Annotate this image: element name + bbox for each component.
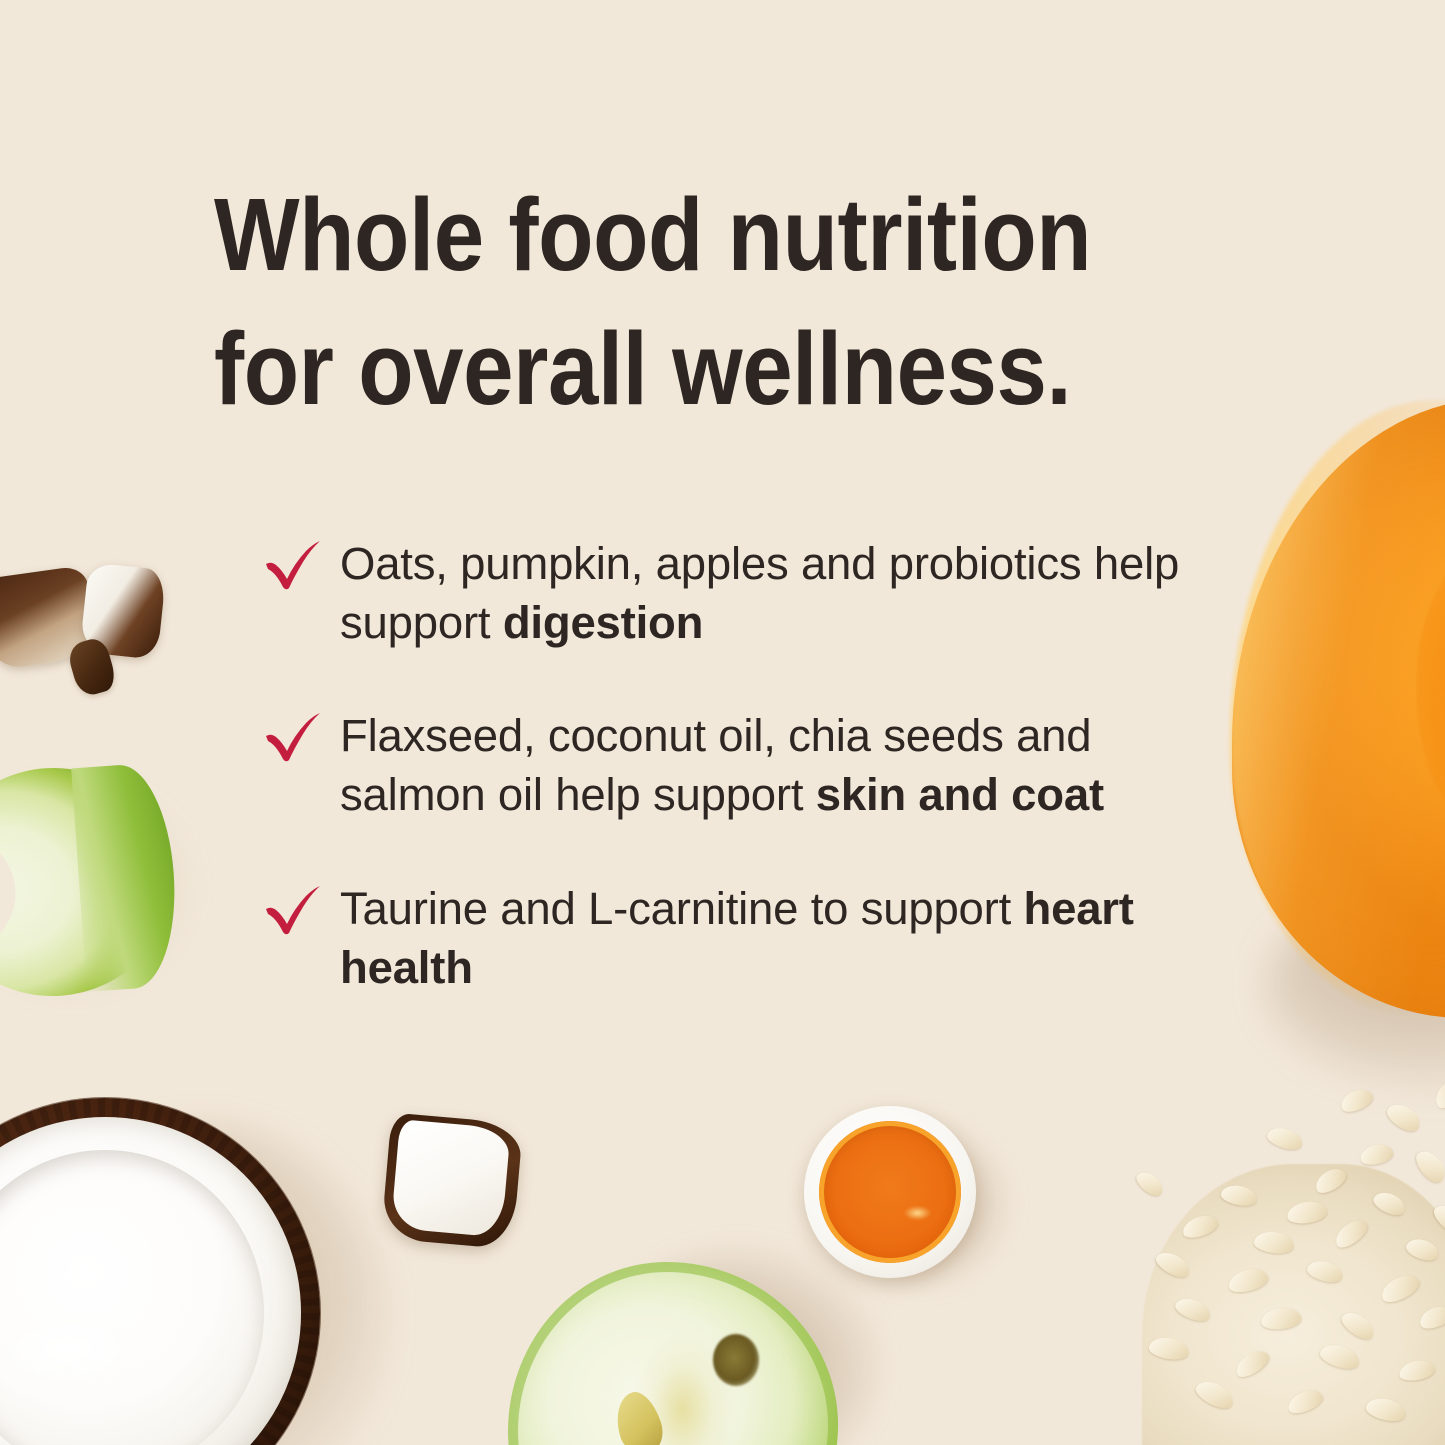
- coconut-highlight: [2, 1322, 148, 1391]
- headline-line-2: for overall wellness.: [214, 302, 1173, 436]
- oat-flake: [1411, 1146, 1445, 1187]
- apple-half-image: [508, 1262, 838, 1445]
- list-item: Oats, pumpkin, apples and probiotics hel…: [262, 534, 1222, 652]
- check-icon: [262, 712, 324, 764]
- pumpkin-rim-highlight: [1230, 400, 1445, 1014]
- oil-highlight: [904, 1206, 932, 1220]
- oat-flake: [1265, 1124, 1305, 1153]
- list-item-text: Flaxseed, coconut oil, chia seeds and sa…: [340, 706, 1222, 824]
- check-icon: [262, 885, 324, 937]
- oat-flake: [1431, 1075, 1445, 1112]
- page-title: Whole food nutrition for overall wellnes…: [214, 168, 1173, 436]
- headline-line-1: Whole food nutrition: [214, 168, 1173, 302]
- oats-pile-image: [1142, 1080, 1445, 1445]
- apple-half-stem-pit: [713, 1334, 759, 1386]
- oil-surface: [819, 1121, 962, 1264]
- list-item-text-regular: Taurine and L-carnitine to support: [340, 883, 1024, 934]
- list-item: Flaxseed, coconut oil, chia seeds and sa…: [262, 706, 1222, 824]
- coconut-half-image: [0, 1098, 320, 1445]
- coconut-shard-image: [381, 1112, 523, 1249]
- list-item-text-bold: skin and coat: [816, 769, 1104, 820]
- pumpkin-half-image: [1232, 398, 1445, 1018]
- salmon-oil-bowl-image: [804, 1106, 976, 1278]
- benefits-list: Oats, pumpkin, apples and probiotics hel…: [262, 534, 1222, 997]
- oat-flake: [1358, 1141, 1394, 1166]
- list-item-text: Taurine and L-carnitine to support heart…: [340, 879, 1222, 997]
- coconut-shard-meat: [391, 1120, 511, 1238]
- oat-flake: [1133, 1167, 1167, 1199]
- oat-flake: [1383, 1098, 1425, 1136]
- promo-banner: Whole food nutrition for overall wellnes…: [0, 0, 1445, 1445]
- list-item-text-regular: Oats, pumpkin, apples and probiotics hel…: [340, 538, 1179, 648]
- apple-wedge-image: [0, 760, 180, 1004]
- oat-flake: [1338, 1086, 1376, 1116]
- list-item-text-bold: digestion: [503, 597, 703, 648]
- check-icon: [262, 540, 324, 592]
- list-item-text: Oats, pumpkin, apples and probiotics hel…: [340, 534, 1222, 652]
- apple-wedge-skin: [71, 762, 182, 992]
- list-item: Taurine and L-carnitine to support heart…: [262, 879, 1222, 997]
